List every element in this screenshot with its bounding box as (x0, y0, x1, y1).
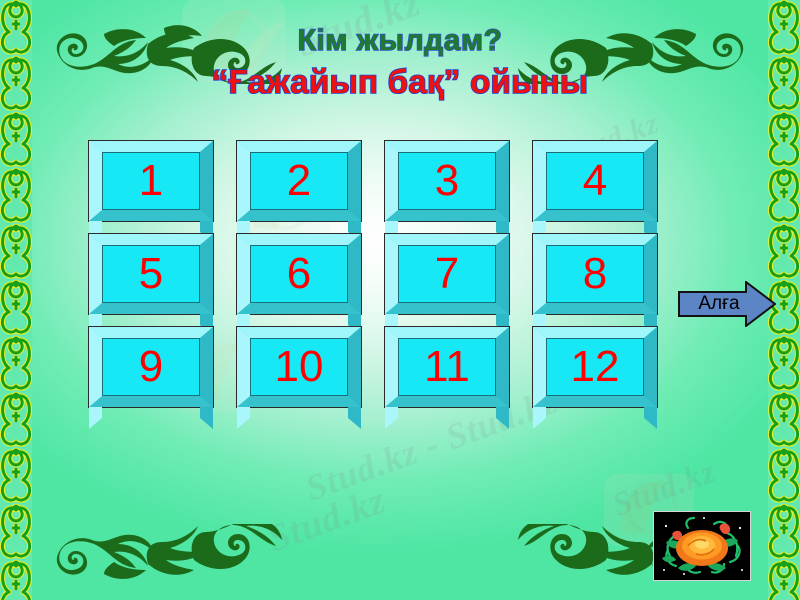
number-button-label: 8 (583, 252, 607, 296)
slide-canvas: Stud.kz Stud.kz Stud.kz - Stud.kz Stud.k… (0, 0, 800, 600)
number-button-6[interactable]: 6 (236, 233, 362, 315)
number-button-label: 10 (275, 345, 324, 389)
button-face: 8 (546, 245, 644, 303)
number-button-9[interactable]: 9 (88, 326, 214, 408)
number-button-10[interactable]: 10 (236, 326, 362, 408)
number-button-label: 9 (139, 345, 163, 389)
button-face: 4 (546, 152, 644, 210)
button-face: 7 (398, 245, 496, 303)
button-face: 11 (398, 338, 496, 396)
number-button-label: 11 (424, 345, 470, 389)
next-button[interactable]: Алға (678, 281, 776, 327)
page-title: Кім жылдам? (0, 24, 800, 58)
number-button-label: 1 (139, 159, 163, 203)
number-button-12[interactable]: 12 (532, 326, 658, 408)
number-button-11[interactable]: 11 (384, 326, 510, 408)
page-subtitle: “Ғажайып бақ” ойыны (0, 63, 800, 100)
number-button-label: 2 (287, 159, 311, 203)
number-button-3[interactable]: 3 (384, 140, 510, 222)
button-face: 10 (250, 338, 348, 396)
number-button-label: 7 (435, 252, 459, 296)
number-button-4[interactable]: 4 (532, 140, 658, 222)
number-button-5[interactable]: 5 (88, 233, 214, 315)
title-block: Кім жылдам? “Ғажайып бақ” ойыны (0, 24, 800, 100)
number-button-label: 6 (287, 252, 311, 296)
button-face: 9 (102, 338, 200, 396)
button-face: 2 (250, 152, 348, 210)
button-face: 1 (102, 152, 200, 210)
button-face: 3 (398, 152, 496, 210)
button-face: 12 (546, 338, 644, 396)
number-button-label: 12 (571, 345, 620, 389)
right-arrow-icon (678, 281, 776, 327)
left-ornament-border (0, 0, 32, 600)
number-button-label: 4 (583, 159, 607, 203)
number-button-2[interactable]: 2 (236, 140, 362, 222)
button-face: 6 (250, 245, 348, 303)
number-button-grid: 1 2 3 4 (88, 140, 658, 408)
orange-rose-image[interactable] (653, 511, 751, 581)
number-button-8[interactable]: 8 (532, 233, 658, 315)
button-face: 5 (102, 245, 200, 303)
number-button-label: 5 (139, 252, 163, 296)
number-button-7[interactable]: 7 (384, 233, 510, 315)
number-button-1[interactable]: 1 (88, 140, 214, 222)
number-button-label: 3 (435, 159, 459, 203)
